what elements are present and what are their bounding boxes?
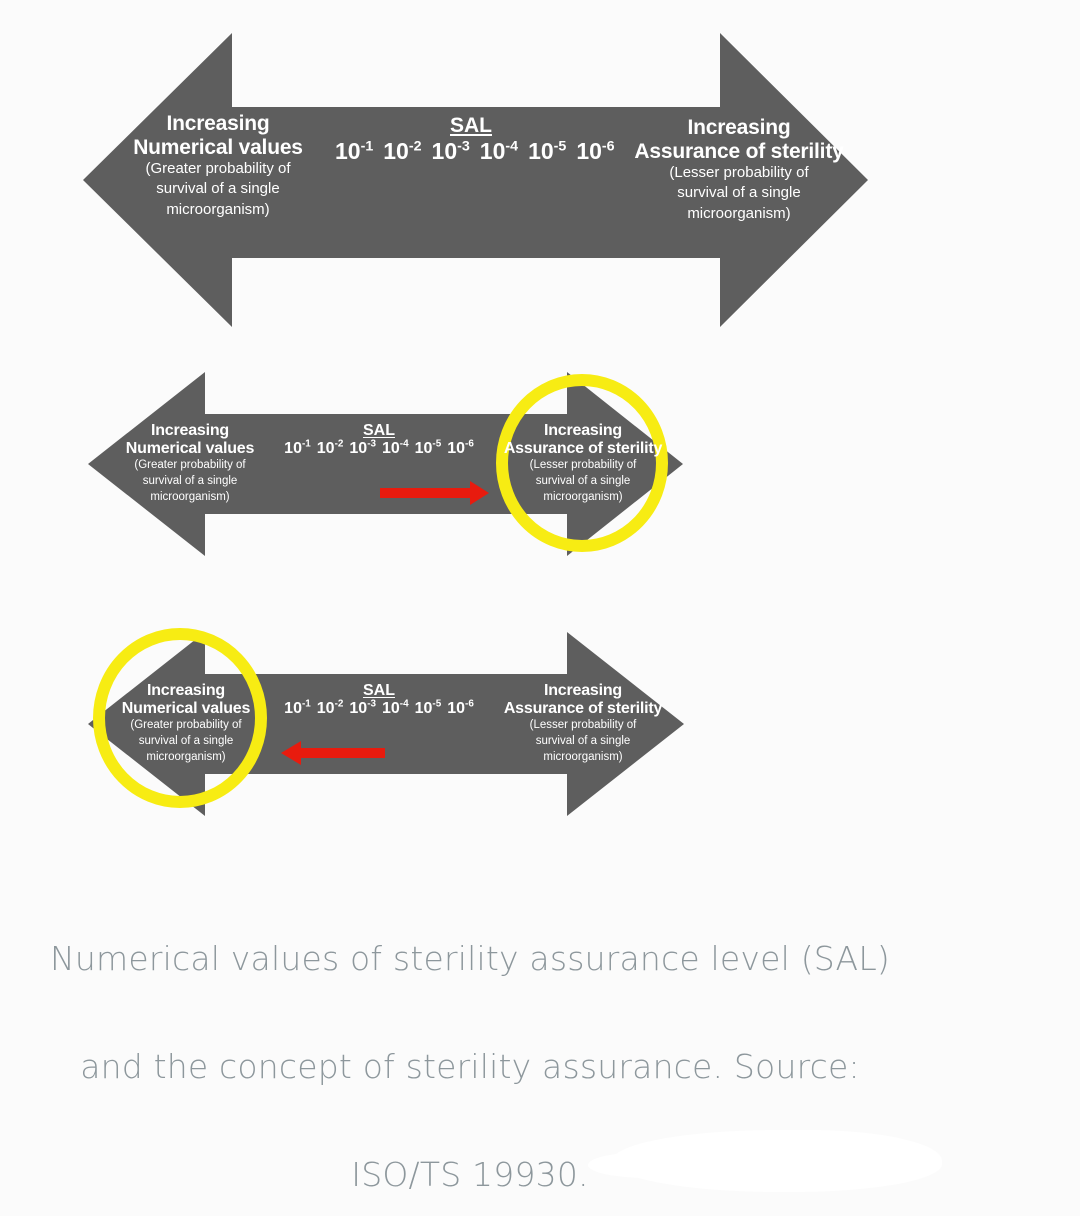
sal-value-item: 10-4 [480,138,518,165]
sal-value-item: 10-1 [335,138,373,165]
sal-value-item: 10-4 [382,440,409,458]
double-arrow-shape-3 [0,612,1080,864]
diagram-1-sal-scale-overview: Increasing Numerical values (Greater pro… [0,0,1080,345]
caption-line-1: Numerical values of sterility assurance … [0,905,1080,1013]
sal-value-item: 10-6 [447,700,474,718]
sal-value-item: 10-1 [284,700,311,718]
sal-value-item: 10-1 [284,440,311,458]
sal-value-item: 10-4 [382,700,409,718]
sal-values-1: 10-110-210-310-410-510-6 [330,138,612,165]
sal-value-item: 10-3 [349,440,376,458]
sal-values-2: 10-110-210-310-410-510-6 [268,440,490,458]
sal-title-3: SAL [268,682,490,700]
sal-value-item: 10-5 [528,138,566,165]
sal-value-item: 10-3 [349,700,376,718]
double-headed-arrow-2 [88,372,683,556]
caption-line-2: and the concept of sterility assurance. … [0,1013,1080,1121]
sal-value-item: 10-2 [317,440,344,458]
double-headed-arrow-3 [88,632,684,816]
sal-block-1: SAL 10-110-210-310-410-510-6 [330,114,612,165]
sal-block-3: SAL 10-110-210-310-410-510-6 [268,682,490,718]
figure-caption: Numerical values of sterility assurance … [0,905,1080,1229]
sal-value-item: 10-6 [447,440,474,458]
diagram-2-sal-scale-assurance-highlighted: Increasing Numerical values (Greater pro… [0,352,1080,604]
double-arrow-shape-1 [0,0,1080,345]
sal-value-item: 10-2 [317,700,344,718]
sal-value-item: 10-2 [383,138,421,165]
sal-value-item: 10-6 [576,138,614,165]
sal-block-2: SAL 10-110-210-310-410-510-6 [268,422,490,458]
sal-value-item: 10-5 [415,700,442,718]
diagram-3-sal-scale-numerical-highlighted: Increasing Numerical values (Greater pro… [0,612,1080,864]
sal-values-3: 10-110-210-310-410-510-6 [268,700,490,718]
sal-value-item: 10-5 [415,440,442,458]
double-arrow-shape-2 [0,352,1080,604]
sal-title-1: SAL [330,114,612,138]
sal-title-2: SAL [268,422,490,440]
caption-line-3: ISO/TS 19930. [0,1121,1080,1229]
double-headed-arrow-1 [83,33,868,327]
sal-value-item: 10-3 [432,138,470,165]
figure-canvas: Increasing Numerical values (Greater pro… [0,0,1080,1216]
